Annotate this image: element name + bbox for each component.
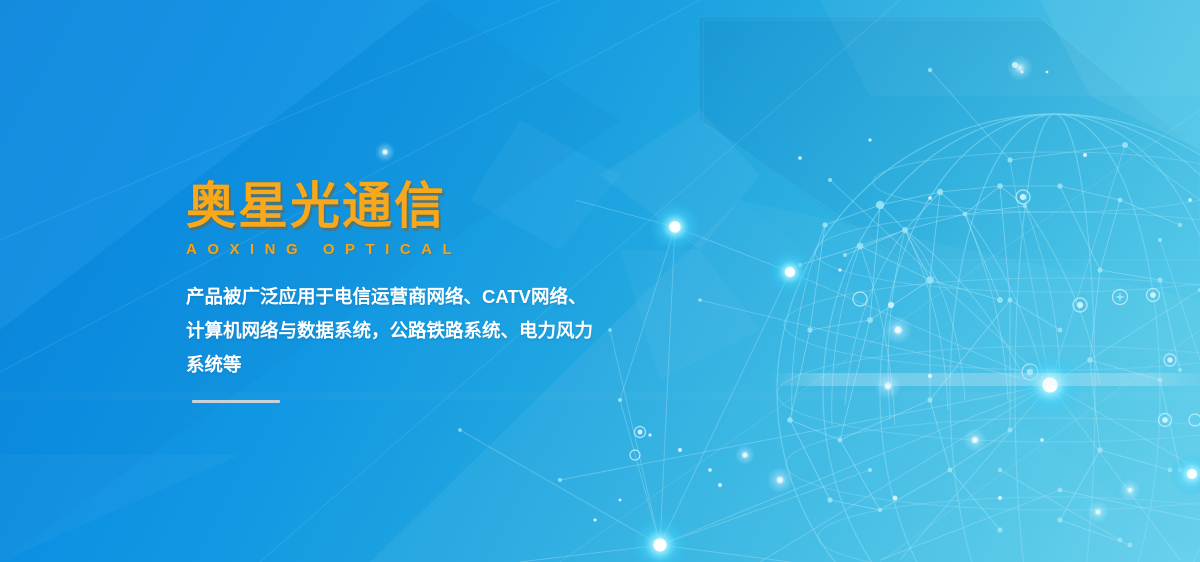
brand-title-en: AOXING OPTICAL [186,241,656,258]
hero-description: 产品被广泛应用于电信运营商网络、CATV网络、计算机网络与数据系统，公路铁路系统… [186,280,598,383]
divider-rule [192,400,280,403]
brand-title-cn: 奥星光通信 [186,178,656,235]
hero-content: 奥星光通信 AOXING OPTICAL 产品被广泛应用于电信运营商网络、CAT… [186,178,656,403]
hero-banner: 奥星光通信 AOXING OPTICAL 产品被广泛应用于电信运营商网络、CAT… [0,0,1200,562]
